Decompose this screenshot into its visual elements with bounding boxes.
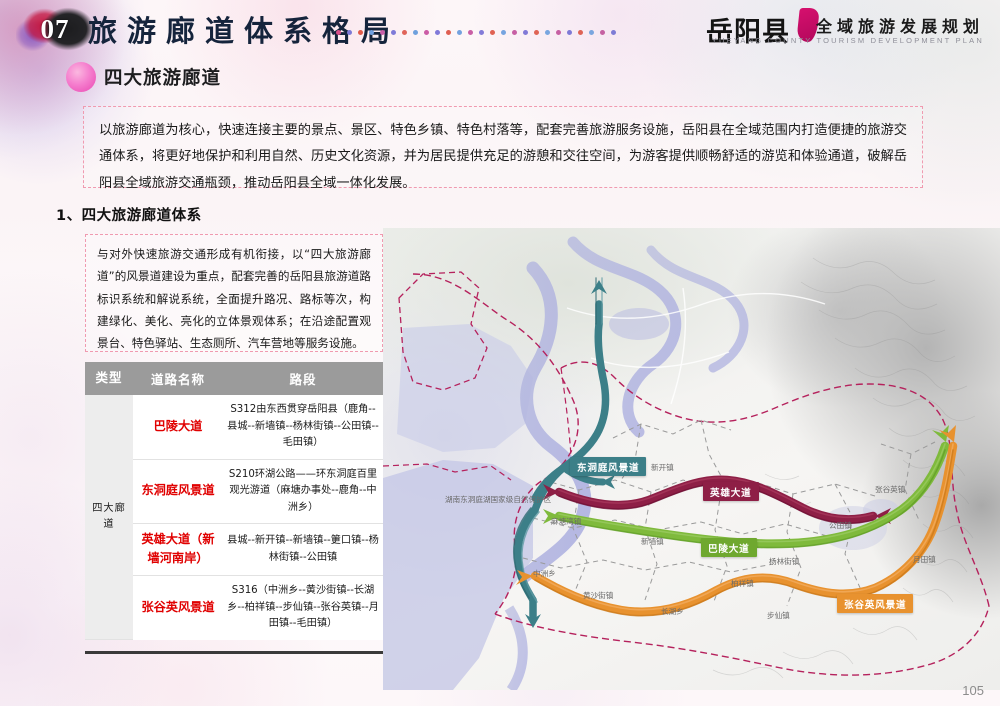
header-dot <box>446 30 451 35</box>
header-dot <box>567 30 572 35</box>
header-dot <box>424 30 429 35</box>
header-dot <box>479 30 484 35</box>
map-town-label: 步仙镇 <box>767 610 790 621</box>
corridor-table: 类型 道路名称 路段 四大廊道 巴陵大道 S312由东西贯穿岳阳县（鹿角--县城… <box>85 362 383 640</box>
map-town-label: 柏祥镇 <box>731 578 754 589</box>
road-name: 东洞庭风景道 <box>141 483 214 497</box>
subsection-title: 1、四大旅游廊道体系 <box>56 204 202 225</box>
map-town-label: 新开镇 <box>651 462 674 473</box>
table-header-road-name: 道路名称 <box>133 362 223 395</box>
table-cell-type: 四大廊道 <box>85 395 133 640</box>
header-dot <box>435 30 440 35</box>
map-area-label: 湖南东洞庭湖国家级自然保护区 <box>445 494 551 505</box>
brand-subtitle: 全域旅游发展规划 <box>816 13 984 37</box>
header-dot <box>391 30 396 35</box>
map-town-label: 张谷英镇 <box>875 484 905 495</box>
header-dot <box>600 30 605 35</box>
header-dot <box>523 30 528 35</box>
page-header: 07 旅游廊道体系格局 岳阳县 全域旅游发展规划 YUEYANG COUNTY … <box>0 0 1000 58</box>
header-dot <box>380 30 385 35</box>
road-segment: S316（中洲乡--黄沙街镇--长湖乡--柏祥镇--步仙镇--张谷英镇--月田镇… <box>223 576 383 640</box>
header-dot <box>589 30 594 35</box>
section-title: 四大旅游廊道 <box>104 64 221 90</box>
header-dot <box>611 30 616 35</box>
header-dot <box>490 30 495 35</box>
table-header-row: 类型 道路名称 路段 <box>85 362 383 395</box>
map-town-label: 新墙镇 <box>641 536 664 547</box>
map-town-label: 麻塘湾镇 <box>551 516 581 527</box>
map-badge-yingxiong: 英雄大道 <box>703 482 759 501</box>
header-dot <box>534 30 539 35</box>
table-row: 四大廊道 巴陵大道 S312由东西贯穿岳阳县（鹿角--县城--新墙镇--杨林街镇… <box>85 395 383 459</box>
road-segment: 县城--新开镇--新墙镇--筻口镇--杨林街镇--公田镇 <box>223 524 383 576</box>
map-town-label: 黄沙街镇 <box>583 590 613 601</box>
header-dot <box>501 30 506 35</box>
header-dot <box>545 30 550 35</box>
header-dot <box>413 30 418 35</box>
header-dot <box>468 30 473 35</box>
tourism-corridor-map[interactable]: 湖南东洞庭湖国家级自然保护区 新开镇 麻塘湾镇 新墙镇 中洲乡 黄沙街镇 长湖乡… <box>383 228 1000 690</box>
intro-text: 以旅游廊道为核心，快速连接主要的景点、景区、特色乡镇、特色村落等，配套完善旅游服… <box>99 118 907 197</box>
note-box: 与对外快速旅游交通形成有机衔接，以“四大旅游廊道”的风景道建设为重点，配套完善的… <box>85 234 383 352</box>
header-dot-divider <box>336 28 708 37</box>
map-town-label: 公田镇 <box>829 520 852 531</box>
map-badge-zhangguying: 张谷英风景道 <box>837 594 913 613</box>
map-town-label: 月田镇 <box>913 554 936 565</box>
map-graphics <box>383 228 1000 690</box>
brand-subtitle-en: YUEYANG COUNTY TOURISM DEVELOPMENT PLAN <box>712 36 984 45</box>
header-dot <box>578 30 583 35</box>
road-name: 英雄大道（新墙河南岸） <box>141 532 214 565</box>
road-name: 巴陵大道 <box>154 419 203 433</box>
road-name: 张谷英风景道 <box>141 600 214 614</box>
table-header-segment: 路段 <box>223 362 383 395</box>
header-dot <box>402 30 407 35</box>
map-town-label: 杨林街镇 <box>769 556 799 567</box>
table-header-type: 类型 <box>85 362 133 395</box>
watercolor-dot-icon <box>66 62 96 92</box>
header-dot <box>336 30 341 35</box>
intro-box: 以旅游廊道为核心，快速连接主要的景点、景区、特色乡镇、特色村落等，配套完善旅游服… <box>83 106 923 188</box>
map-badge-baling: 巴陵大道 <box>701 538 757 557</box>
chapter-number: 07 <box>28 8 82 50</box>
road-segment: S312由东西贯穿岳阳县（鹿角--县城--新墙镇--杨林街镇--公田镇--毛田镇… <box>223 395 383 459</box>
header-dot <box>457 30 462 35</box>
header-dot <box>358 30 363 35</box>
table-bottom-rule <box>85 651 383 654</box>
map-town-label: 中洲乡 <box>533 568 556 579</box>
page-number: 105 <box>962 683 984 698</box>
header-dot <box>347 30 352 35</box>
header-dot <box>369 30 374 35</box>
map-town-label: 长湖乡 <box>661 606 684 617</box>
note-text: 与对外快速旅游交通形成有机衔接，以“四大旅游廊道”的风景道建设为重点，配套完善的… <box>97 243 371 354</box>
header-dot <box>556 30 561 35</box>
header-dot <box>512 30 517 35</box>
map-badge-dongdongting: 东洞庭风景道 <box>570 457 646 476</box>
road-segment: S210环湖公路——环东洞庭百里观光游道（麻塘办事处--鹿角--中洲乡） <box>223 459 383 524</box>
